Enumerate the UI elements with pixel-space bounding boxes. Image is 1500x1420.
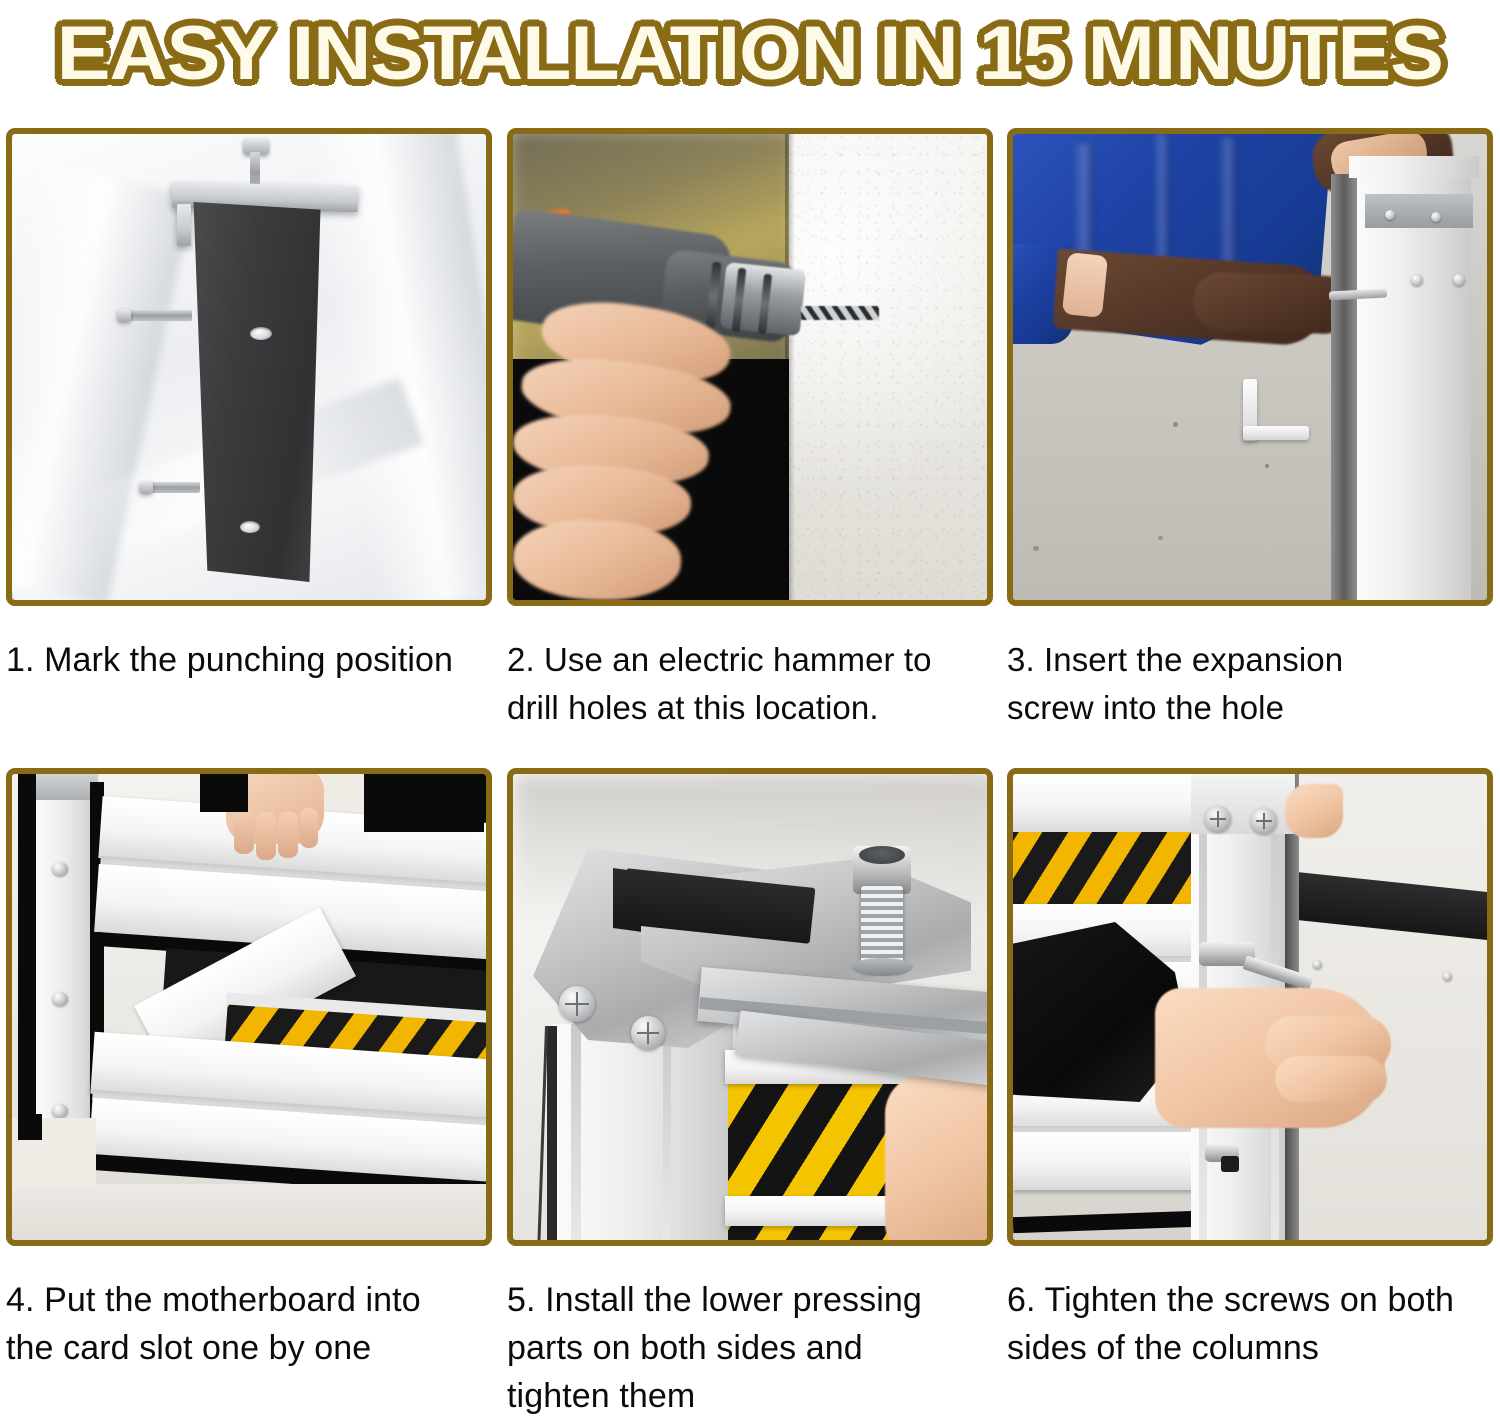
step-caption-2: 2. Use an electric hammer to drill holes… [507,636,993,732]
step-photo-2 [507,128,993,606]
step-caption-6: 6. Tighten the screws on both sides of t… [1007,1276,1493,1372]
pressing-bracket-illustration [513,774,987,1240]
steps-row-1: 1. Mark the punching position [0,128,1500,768]
step-caption-1: 1. Mark the punching position [6,636,492,684]
step-caption-3: 3. Insert the expansion screw into the h… [1007,636,1493,732]
step-photo-4 [6,768,492,1246]
drilling-wall-illustration [513,134,987,600]
bracket-on-cloth-illustration [12,134,486,600]
step-card-2: 2. Use an electric hammer to drill holes… [507,128,993,732]
step-card-3: 3. Insert the expansion screw into the h… [1007,128,1493,732]
tighten-screws-illustration [1013,774,1487,1240]
step-photo-6 [1007,768,1493,1246]
steps-row-2: 4. Put the motherboard into the card slo… [0,768,1500,1408]
step-card-4: 4. Put the motherboard into the card slo… [6,768,492,1372]
expansion-screw-illustration [1013,134,1487,600]
step-card-6: 6. Tighten the screws on both sides of t… [1007,768,1493,1372]
step-caption-4: 4. Put the motherboard into the card slo… [6,1276,492,1372]
step-photo-3 [1007,128,1493,606]
header-banner: EASY INSTALLATION IN 15 MINUTES [0,0,1500,108]
page-title: EASY INSTALLATION IN 15 MINUTES [57,16,1443,92]
boards-into-slot-illustration [12,774,486,1240]
step-photo-1 [6,128,492,606]
step-card-5: 5. Install the lower pressing parts on b… [507,768,993,1420]
step-caption-5: 5. Install the lower pressing parts on b… [507,1276,993,1420]
steps-grid: 1. Mark the punching position [0,128,1500,1408]
step-photo-5 [507,768,993,1246]
step-card-1: 1. Mark the punching position [6,128,492,684]
